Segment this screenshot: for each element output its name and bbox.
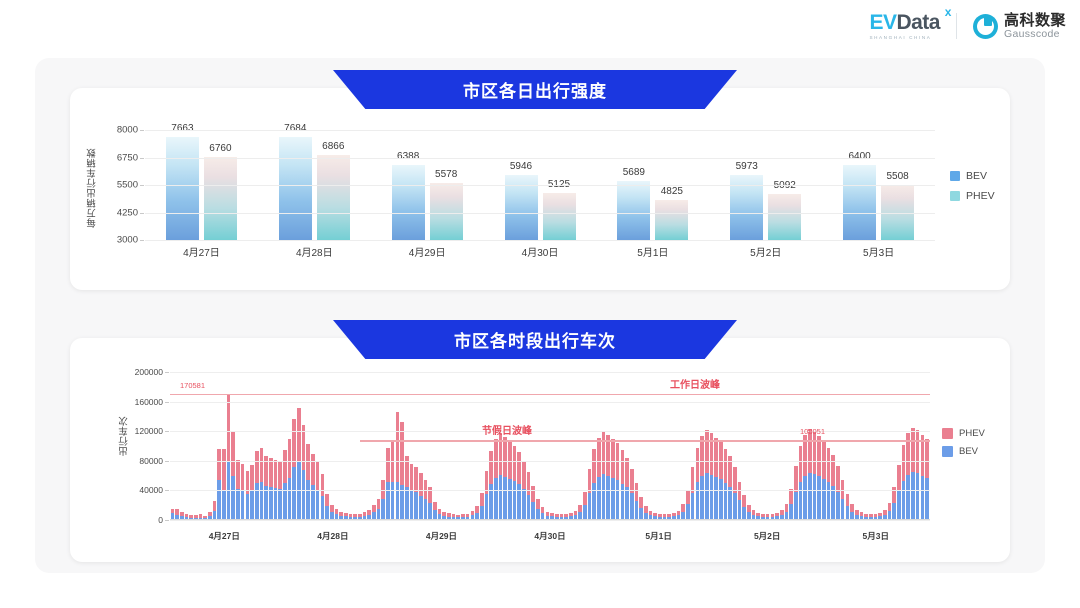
chart2-segment-phev	[813, 432, 817, 474]
chart2-segment-phev	[274, 460, 278, 488]
chart2-segment-bev	[696, 482, 700, 520]
chart2-segment-bev	[531, 502, 535, 520]
chart1-bar-phev: 4825	[655, 200, 688, 240]
chart2-segment-phev	[475, 506, 479, 513]
chart2-segment-phev	[503, 437, 507, 477]
chart2-x-label: 5月1日	[604, 530, 713, 542]
chart2-segment-phev	[696, 448, 700, 483]
gausscode-mark-icon	[973, 14, 998, 39]
chart2-segment-phev	[902, 445, 906, 481]
chart2-segment-bev	[827, 482, 831, 520]
chart2-x-label: 5月2日	[713, 530, 822, 542]
chart2-segment-phev	[686, 490, 690, 504]
chart2-segment-bev	[808, 473, 812, 520]
chart2-segment-bev	[635, 501, 639, 520]
chart2-segment-phev	[644, 506, 648, 513]
chart1-gridline	[145, 213, 935, 214]
chart2-segment-bev	[424, 499, 428, 520]
chart1-legend-label: PHEV	[966, 190, 995, 202]
legend-swatch-icon	[950, 171, 960, 181]
daily-intensity-chart: 每万辆出行车辆数 7663676076846866638855785946512…	[70, 88, 1010, 290]
chart2-segment-phev	[635, 483, 639, 501]
chart1-y-tick: 4250	[117, 207, 138, 218]
chart2-segment-phev	[269, 458, 273, 487]
chart2-segment-bev	[522, 489, 526, 520]
chart2-segment-bev	[513, 481, 517, 520]
chart1-bar-value: 5578	[435, 169, 457, 180]
chart2-segment-bev	[906, 475, 910, 520]
daily-intensity-title-banner: 市区各日出行强度	[333, 70, 737, 109]
chart2-weekday-peak-line	[170, 394, 930, 396]
chart2-segment-phev	[175, 509, 179, 516]
chart2-segment-phev	[602, 432, 606, 474]
chart1-x-label: 5月3日	[822, 244, 935, 259]
presentation-slide: EVDatax SHANGHAI CHINA 高科数聚 Gausscode 市区…	[0, 0, 1080, 608]
chart2-segment-phev	[817, 436, 821, 476]
chart2-segment-bev	[719, 479, 723, 520]
chart1-legend-item-phev[interactable]: PHEV	[950, 190, 995, 202]
chart2-segment-phev	[260, 448, 264, 482]
chart2-segment-bev	[306, 480, 310, 520]
chart2-y-tickmark	[165, 372, 169, 373]
chart2-legend-label: BEV	[959, 446, 978, 457]
chart2-segment-phev	[377, 499, 381, 509]
chart2-segment-bev	[616, 480, 620, 520]
chart2-segment-phev	[522, 461, 526, 489]
chart1-y-tickmark	[140, 158, 144, 159]
chart2-segment-bev	[391, 482, 395, 520]
chart2-segment-phev	[217, 449, 221, 479]
chart2-segment-phev	[297, 408, 301, 462]
chart1-y-tick: 5500	[117, 180, 138, 191]
chart2-segment-phev	[396, 412, 400, 482]
chart2-segment-bev	[274, 488, 278, 520]
chart2-x-label: 4月29日	[387, 530, 496, 542]
chart2-segment-phev	[799, 446, 803, 482]
chart2-segment-bev	[724, 483, 728, 520]
chart2-segment-phev	[381, 480, 385, 499]
chart2-segment-phev	[419, 473, 423, 495]
chart2-segment-bev	[630, 493, 634, 520]
chart2-segment-bev	[222, 490, 226, 520]
chart2-segment-phev	[846, 494, 850, 507]
chart2-segment-bev	[396, 482, 400, 520]
chart2-y-tick: 80000	[139, 456, 163, 466]
chart1-bar-value: 4825	[661, 186, 683, 197]
chart2-segment-bev	[892, 503, 896, 520]
chart2-segment-phev	[330, 505, 334, 512]
chart2-segment-phev	[311, 454, 315, 485]
chart2-weekday-peak-value: 170581	[180, 381, 205, 390]
chart2-segment-bev	[246, 494, 250, 520]
chart2-segment-bev	[911, 472, 915, 520]
chart2-segment-bev	[414, 492, 418, 520]
chart2-segment-phev	[292, 419, 296, 467]
chart2-segment-phev	[288, 439, 292, 477]
chart2-segment-phev	[494, 439, 498, 477]
chart2-segment-bev	[527, 495, 531, 520]
chart2-segment-phev	[250, 465, 254, 491]
chart1-y-tick: 8000	[117, 125, 138, 136]
chart2-segment-phev	[836, 466, 840, 492]
chart2-segment-bev	[489, 484, 493, 520]
chart2-segment-bev	[508, 479, 512, 520]
chart1-y-tickmark	[140, 240, 144, 241]
chart2-segment-phev	[316, 462, 320, 489]
chart2-segment-bev	[925, 478, 929, 520]
chart2-segment-bev	[733, 493, 737, 520]
chart1-x-label: 4月27日	[145, 244, 258, 259]
chart2-segment-phev	[592, 449, 596, 483]
chart1-y-tickmark	[140, 213, 144, 214]
chart2-segment-phev	[724, 449, 728, 483]
chart2-y-tick: 200000	[135, 367, 163, 377]
chart2-gridline	[170, 461, 930, 462]
chart2-segment-bev	[499, 475, 503, 520]
chart2-segment-phev	[897, 465, 901, 492]
chart2-segment-bev	[625, 487, 629, 520]
chart2-segment-phev	[583, 492, 587, 505]
chart2-legend-label: PHEV	[959, 428, 985, 439]
chart1-y-tick: 6750	[117, 152, 138, 163]
chart2-segment-bev	[494, 478, 498, 520]
chart1-bar-bev: 6400	[843, 165, 876, 240]
chart2-gridline	[170, 402, 930, 403]
chart2-segment-bev	[738, 500, 742, 520]
chart2-segment-bev	[410, 490, 414, 520]
chart2-segment-bev	[691, 493, 695, 520]
chart2-segment-bev	[236, 489, 240, 520]
chart2-segment-phev	[414, 467, 418, 492]
chart2-y-tickmark	[165, 431, 169, 432]
chart2-segment-phev	[611, 439, 615, 477]
chart1-bar-value: 5973	[736, 161, 758, 172]
chart2-segment-bev	[241, 490, 245, 520]
hourly-trips-chart: 出行车次 04000080000120000160000200000170581…	[70, 338, 1010, 562]
chart2-segment-bev	[813, 474, 817, 520]
chart2-segment-phev	[236, 460, 240, 488]
chart2-segment-bev	[606, 476, 610, 520]
chart2-segment-phev	[227, 394, 231, 461]
chart2-segment-phev	[822, 441, 826, 479]
chart2-segment-phev	[625, 458, 629, 488]
chart2-segment-bev	[583, 505, 587, 520]
chart2-segment-bev	[386, 482, 390, 520]
chart1-y-tickmark	[140, 130, 144, 131]
chart2-segment-bev	[316, 490, 320, 520]
chart2-segment-phev	[213, 501, 217, 511]
hourly-trips-title-banner: 市区各时段出行车次	[333, 320, 737, 359]
chart2-segment-bev	[799, 482, 803, 520]
chart2-segment-phev	[433, 502, 437, 511]
chart2-segment-bev	[269, 487, 273, 520]
chart1-bar-value: 7663	[171, 123, 193, 134]
chart1-bar-bev: 6388	[392, 165, 425, 240]
chart2-segment-phev	[700, 436, 704, 476]
chart2-legend: PHEVBEV	[942, 428, 985, 457]
chart1-bar-value: 6866	[322, 141, 344, 152]
chart2-segment-phev	[733, 467, 737, 492]
chart2-segment-phev	[283, 450, 287, 483]
chart2-segment-bev	[381, 499, 385, 520]
chart2-segment-bev	[231, 476, 235, 520]
chart2-y-axis-label: 出行车次	[118, 416, 132, 456]
chart2-segment-bev	[588, 493, 592, 520]
chart1-gridline	[145, 158, 935, 159]
chart1-bar-value: 6760	[209, 143, 231, 154]
chart1-bar-value: 7684	[284, 123, 306, 134]
chart2-y-tickmark	[165, 461, 169, 462]
chart2-segment-bev	[321, 496, 325, 520]
chart2-segment-phev	[916, 430, 920, 473]
chart2-segment-bev	[705, 473, 709, 520]
evdata-logo-tagline: SHANGHAI CHINA	[869, 36, 931, 41]
chart2-segment-bev	[621, 484, 625, 520]
chart2-segment-bev	[794, 492, 798, 520]
chart2-segment-phev	[325, 494, 329, 506]
legend-swatch-icon	[942, 428, 953, 439]
chart1-bar-bev: 7663	[166, 137, 199, 240]
chart2-segment-phev	[578, 505, 582, 512]
chart2-segment-phev	[850, 504, 854, 511]
chart2-holiday-peak-value: 108051	[800, 427, 825, 436]
chart2-x-label: 4月28日	[279, 530, 388, 542]
chart2-holiday-peak-line	[360, 440, 930, 442]
chart1-x-label: 5月1日	[596, 244, 709, 259]
chart2-weekday-peak-label: 工作日波峰	[670, 376, 720, 391]
chart2-segment-phev	[527, 472, 531, 495]
chart2-segment-phev	[747, 505, 751, 512]
gausscode-name-cn: 高科数聚	[1004, 13, 1066, 29]
chart2-x-label: 4月30日	[496, 530, 605, 542]
chart2-y-tick: 120000	[135, 426, 163, 436]
chart2-gridline	[170, 490, 930, 491]
chart2-segment-bev	[419, 496, 423, 520]
chart2-segment-phev	[241, 464, 245, 490]
chart2-segment-bev	[503, 477, 507, 520]
chart2-segment-bev	[480, 506, 484, 520]
chart1-y-axis-label: 每万辆出行车辆数	[86, 148, 100, 228]
chart2-segment-bev	[292, 467, 296, 520]
chart2-segment-phev	[424, 480, 428, 499]
logo-divider	[956, 13, 957, 39]
chart1-x-axis-labels: 4月27日4月28日4月29日4月30日5月1日5月2日5月3日	[145, 244, 935, 259]
chart2-segment-bev	[597, 477, 601, 520]
chart2-segment-phev	[386, 448, 390, 482]
chart2-segment-phev	[372, 505, 376, 512]
chart2-y-tick: 160000	[135, 397, 163, 407]
header-logos: EVDatax SHANGHAI CHINA 高科数聚 Gausscode	[869, 12, 1066, 41]
evdata-logo-data: Data	[896, 11, 940, 34]
chart1-bar-value: 5689	[623, 167, 645, 178]
chart2-segment-bev	[602, 474, 606, 520]
chart2-segment-phev	[517, 452, 521, 485]
chart2-segment-bev	[592, 483, 596, 520]
evdata-logo: EVDatax SHANGHAI CHINA	[869, 12, 940, 41]
chart2-segment-phev	[410, 464, 414, 491]
chart2-segment-bev	[916, 473, 920, 520]
chart2-segment-phev	[536, 499, 540, 509]
chart2-segment-bev	[902, 481, 906, 520]
chart1-bar-bev: 7684	[279, 137, 312, 240]
chart2-segment-bev	[288, 478, 292, 520]
chart2-gridline	[170, 372, 930, 373]
evdata-logo-superscript: x	[945, 6, 951, 18]
chart2-segment-phev	[742, 495, 746, 507]
chart2-segment-phev	[705, 430, 709, 473]
chart2-segment-phev	[714, 438, 718, 477]
chart1-legend-label: BEV	[966, 170, 987, 182]
chart1-x-label: 4月29日	[371, 244, 484, 259]
chart1-bar-value: 5508	[886, 171, 908, 182]
chart2-segment-phev	[255, 451, 259, 482]
chart2-segment-bev	[822, 479, 826, 520]
chart2-segment-phev	[621, 450, 625, 483]
chart1-bar-value: 5946	[510, 161, 532, 172]
chart2-legend-item-bev[interactable]: BEV	[942, 446, 985, 457]
chart2-segment-bev	[255, 483, 259, 520]
chart2-segment-bev	[789, 504, 793, 520]
chart2-segment-phev	[911, 428, 915, 472]
chart2-segment-bev	[325, 506, 329, 520]
chart1-bar-phev: 6866	[317, 155, 350, 240]
chart1-plot-area: 7663676076846866638855785946512556894825…	[145, 130, 935, 240]
chart1-gridline	[145, 130, 935, 131]
chart2-segment-bev	[686, 504, 690, 520]
legend-swatch-icon	[950, 191, 960, 201]
chart2-segment-bev	[278, 489, 282, 520]
chart2-segment-bev	[841, 499, 845, 520]
chart2-segment-phev	[639, 497, 643, 508]
chart1-y-tick: 3000	[117, 235, 138, 246]
chart2-segment-phev	[597, 438, 601, 477]
chart2-segment-phev	[231, 432, 235, 476]
chart2-segment-phev	[794, 466, 798, 492]
chart1-bar-phev: 6760	[204, 157, 237, 240]
gausscode-wordmark: 高科数聚 Gausscode	[1004, 13, 1066, 40]
evdata-logo-ev: EV	[869, 11, 896, 34]
chart2-segment-phev	[321, 474, 325, 495]
chart2-segment-phev	[531, 486, 535, 502]
chart1-bar-bev: 5689	[617, 181, 650, 240]
chart2-legend-item-phev[interactable]: PHEV	[942, 428, 985, 439]
legend-swatch-icon	[942, 446, 953, 457]
chart2-segment-bev	[921, 476, 925, 520]
chart2-segment-bev	[846, 506, 850, 520]
chart2-segment-bev	[485, 494, 489, 520]
chart2-segment-bev	[405, 487, 409, 520]
chart2-segment-bev	[803, 476, 807, 520]
chart2-segment-phev	[827, 448, 831, 483]
chart2-segment-bev	[283, 483, 287, 520]
chart2-y-tickmark	[165, 490, 169, 491]
chart2-segment-bev	[700, 476, 704, 520]
chart2-segment-bev	[817, 476, 821, 520]
chart2-plot-area: 04000080000120000160000200000170581工作日波峰…	[170, 372, 930, 520]
chart1-bar-phev: 5092	[768, 194, 801, 240]
chart2-segment-bev	[217, 480, 221, 520]
chart2-segment-bev	[728, 487, 732, 520]
gausscode-logo: 高科数聚 Gausscode	[973, 13, 1066, 40]
chart1-y-tickmark	[140, 185, 144, 186]
chart1-gridline	[145, 185, 935, 186]
chart2-segment-phev	[222, 449, 226, 490]
evdata-logo-wordmark: EVDatax	[869, 12, 940, 33]
chart2-segment-bev	[714, 477, 718, 520]
chart2-segment-bev	[611, 478, 615, 520]
chart2-gridline	[170, 520, 930, 521]
chart2-segment-phev	[785, 504, 789, 512]
chart2-y-tickmark	[165, 402, 169, 403]
chart2-x-label: 4月27日	[170, 530, 279, 542]
chart1-legend-item-bev[interactable]: BEV	[950, 170, 995, 182]
chart2-x-axis-labels: 4月27日4月28日4月29日4月30日5月1日5月2日5月3日	[170, 530, 930, 542]
chart1-x-label: 5月2日	[709, 244, 822, 259]
chart2-segment-phev	[925, 439, 929, 477]
chart2-segment-phev	[691, 467, 695, 492]
chart2-x-label: 5月3日	[821, 530, 930, 542]
chart2-segment-bev	[250, 490, 254, 520]
chart2-segment-phev	[513, 446, 517, 482]
chart2-y-tick: 0	[158, 515, 163, 525]
chart1-x-label: 4月30日	[484, 244, 597, 259]
chart2-segment-bev	[302, 470, 306, 520]
chart2-segment-bev	[836, 492, 840, 520]
chart2-segment-phev	[278, 462, 282, 489]
chart1-legend: BEVPHEV	[950, 170, 995, 202]
chart2-y-tickmark	[165, 520, 169, 521]
chart2-segment-bev	[260, 482, 264, 520]
chart1-bar-phev: 5125	[543, 193, 576, 240]
chart1-gridline	[145, 240, 935, 241]
chart2-holiday-peak-label: 节假日波峰	[482, 422, 532, 437]
chart2-segment-phev	[480, 493, 484, 506]
chart2-segment-bev	[897, 491, 901, 520]
chart2-segment-bev	[710, 475, 714, 520]
gausscode-name-en: Gausscode	[1004, 29, 1066, 40]
chart2-segment-phev	[489, 451, 493, 484]
chart2-segment-phev	[888, 503, 892, 511]
chart2-segment-phev	[681, 504, 685, 511]
chart1-x-label: 4月28日	[258, 244, 371, 259]
chart2-segment-bev	[428, 503, 432, 520]
chart2-y-tick: 40000	[139, 485, 163, 495]
chart2-segment-phev	[831, 455, 835, 486]
chart2-segment-phev	[306, 444, 310, 480]
